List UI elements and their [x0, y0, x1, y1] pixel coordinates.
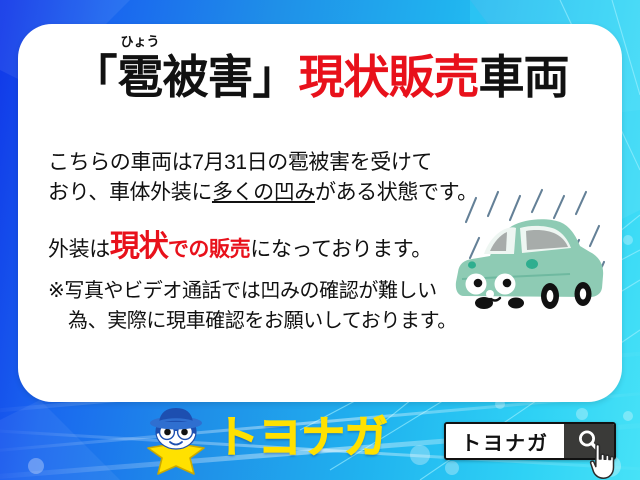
title-close-bracket: 」 — [253, 51, 299, 103]
sales-red-small: での販売 — [168, 238, 250, 261]
body-line-2-pre: おり、車体外装に — [48, 181, 212, 204]
title-tail: 車両 — [479, 51, 569, 103]
sales-pre: 外装は — [48, 238, 110, 261]
body-copy: こちらの車両は7月31日の雹被害を受けて おり、車体外装に多くの凹みがある状態で… — [48, 148, 478, 265]
sales-condition-line: 外装は現状での販売になっております。 — [48, 221, 478, 265]
body-line-2: おり、車体外装に多くの凹みがある状態です。 — [48, 178, 478, 208]
note-line-1: ※写真やビデオ通話では凹みの確認が難しい — [48, 276, 488, 306]
title-open-bracket: 「 — [72, 51, 118, 103]
page-title: 「ひょう雹被害」現状販売車両 — [18, 54, 622, 100]
title-red-emphasis: 現状販売 — [299, 51, 479, 103]
body-line-2-underlined: 多くの凹み — [212, 181, 315, 204]
search-input[interactable]: トヨナガ — [446, 424, 564, 458]
promotional-banner: 「ひょう雹被害」現状販売車両 こちらの車両は7月31日の雹被害を受けて おり、車… — [0, 0, 640, 480]
body-line-1: こちらの車両は7月31日の雹被害を受けて — [48, 148, 478, 178]
title-ruby-base: 雹 — [118, 51, 163, 103]
hail-damaged-car-illustration — [450, 184, 620, 334]
sales-red-emphasis: 現状 — [110, 230, 168, 263]
title-after-ruby: 被害 — [163, 51, 253, 103]
sales-post: になっております。 — [250, 238, 432, 261]
brand-logo-text: トヨナガ — [215, 416, 387, 460]
note-line-2: 為、実際に現車確認をお願いしております。 — [48, 306, 488, 336]
content-card: 「ひょう雹被害」現状販売車両 こちらの車両は7月31日の雹被害を受けて おり、車… — [18, 24, 622, 402]
hand-pointer-icon — [586, 443, 622, 480]
title-ruby-group: ひょう雹 — [118, 54, 163, 100]
title-furigana: ひょう — [120, 35, 159, 48]
inspection-note: ※写真やビデオ通話では凹みの確認が難しい 為、実際に現車確認をお願いしております… — [48, 276, 488, 336]
toyonaga-mascot-icon — [140, 406, 212, 476]
